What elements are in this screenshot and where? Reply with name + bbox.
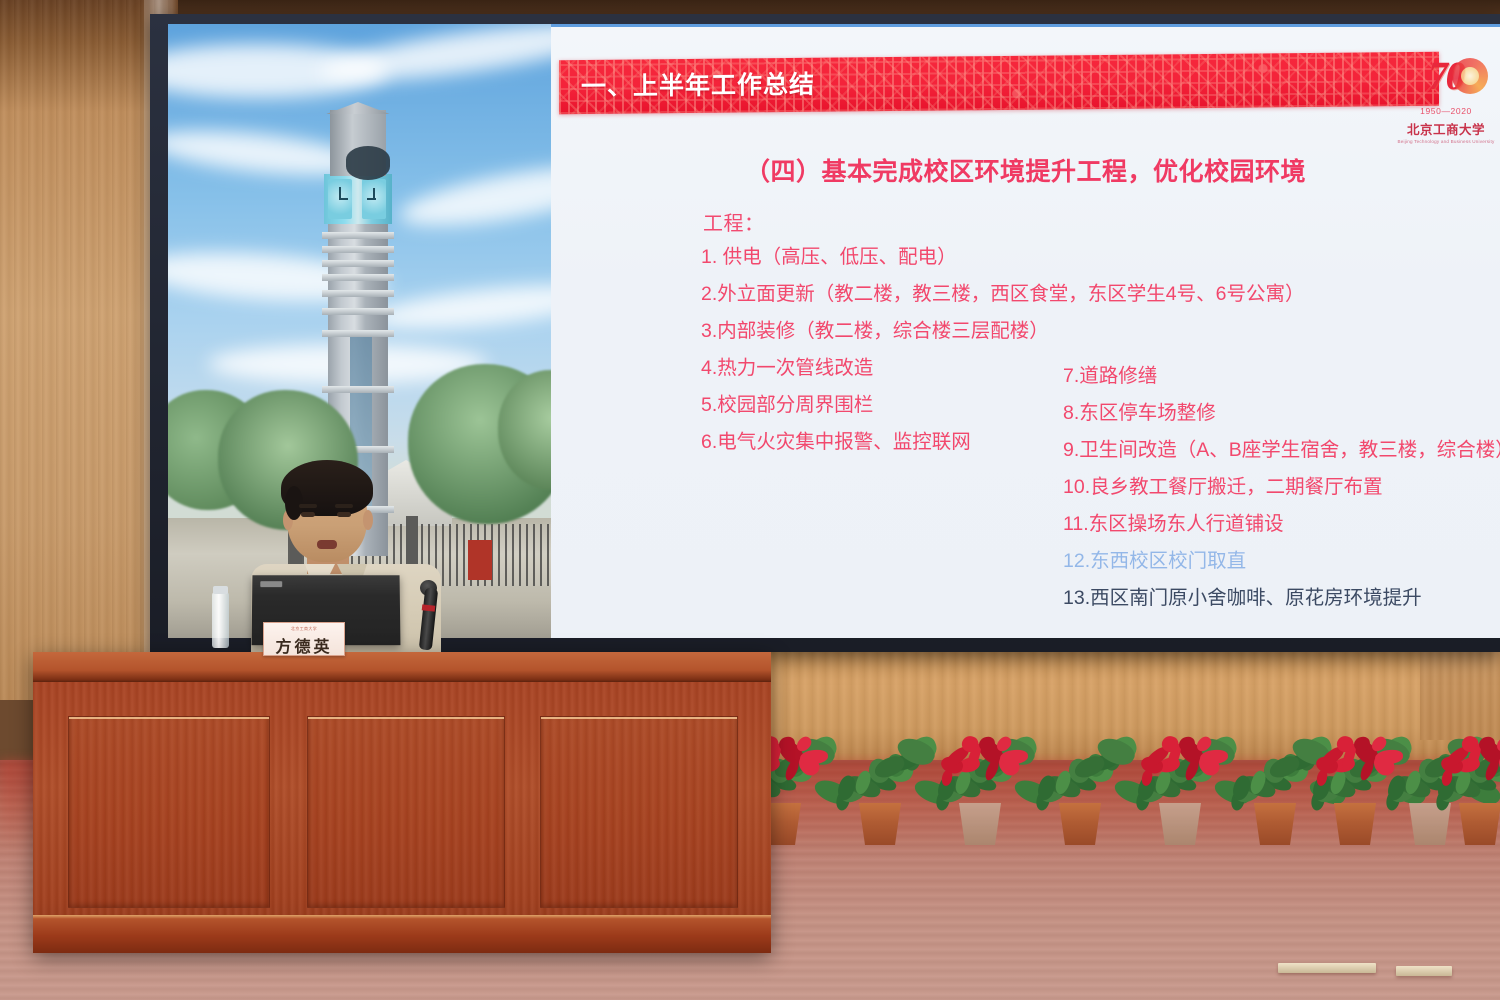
flower-pot [1330, 803, 1380, 845]
eye [337, 512, 351, 517]
list-item: 8.东区停车场整修 [1063, 395, 1500, 432]
logo-swirl-icon [1452, 58, 1488, 94]
list-item: 13.西区南门原小舍咖啡、原花房环境提升 [1063, 580, 1500, 617]
section-banner-label: 一、上半年工作总结 [581, 58, 815, 114]
tower-rib [322, 274, 394, 281]
list-item: 10.良乡教工餐厅搬迁，二期餐厅布置 [1063, 469, 1500, 506]
clock-hand [367, 198, 376, 200]
list-section-heading: 工程： [703, 207, 765, 236]
mouth [317, 540, 337, 549]
slide-content: 一、上半年工作总结 70 1950—2020 北京工商大学 Beijing Te… [551, 24, 1500, 638]
potted-poinsettia [1125, 725, 1235, 845]
presentation-scene: 一、上半年工作总结 70 1950—2020 北京工商大学 Beijing Te… [0, 0, 1500, 1000]
clock-hand [339, 198, 348, 200]
flower-pot [1055, 803, 1105, 845]
photo-red-sign [468, 540, 492, 580]
bottle-cap [213, 586, 228, 594]
podium-panel [307, 716, 505, 908]
flower-pot [1250, 803, 1300, 845]
name-card: 北京工商大学 方德英 [263, 622, 345, 656]
tower-rib [322, 232, 394, 239]
ear [363, 510, 373, 530]
flower-pot [955, 803, 1005, 845]
name-card-name: 方德英 [264, 633, 344, 656]
tower-cap [322, 102, 394, 114]
tower-crown-opening [346, 146, 390, 180]
eye [301, 512, 315, 517]
tower-rib [322, 290, 394, 297]
list-item: 9.卫生间改造（A、B座学生宿舍，教三楼，综合楼） [1063, 432, 1500, 469]
potted-green-plant [825, 725, 935, 845]
potted-green-plant [1025, 725, 1135, 845]
cloud [396, 154, 551, 237]
eyebrow [335, 504, 353, 508]
potted-poinsettia [925, 725, 1035, 845]
flower-pot [1155, 803, 1205, 845]
eyebrow [299, 504, 317, 508]
flower-pot [855, 803, 905, 845]
podium-top-surface [33, 652, 771, 682]
speaker-hair [281, 460, 373, 516]
tower-rib [322, 260, 394, 267]
microphone-band [422, 604, 436, 611]
tower-rib [322, 308, 394, 315]
list-item: 11.东区操场东人行道铺设 [1063, 506, 1500, 543]
name-card-header: 北京工商大学 [264, 626, 344, 632]
water-bottle [212, 592, 229, 648]
tower-rib [322, 330, 394, 337]
podium-base-trim [33, 915, 771, 953]
clock-face [362, 179, 386, 219]
engineering-list-right: 7.道路修缮 8.东区停车场整修 9.卫生间改造（A、B座学生宿舍，教三楼，综合… [1063, 358, 1500, 617]
tower-crown [330, 110, 386, 176]
potted-poinsettia [1425, 725, 1500, 845]
flower-pot [1455, 803, 1500, 845]
podium-panel [540, 716, 738, 908]
section-banner: 一、上半年工作总结 [559, 52, 1439, 114]
floor-marker [1396, 966, 1452, 976]
podium-panel [68, 716, 270, 908]
list-item: 2.外立面更新（教二楼，教三楼，西区食堂，东区学生4号、6号公寓） [701, 276, 1281, 313]
clock-face [328, 179, 352, 219]
logo-number-mark: 70 [1396, 52, 1496, 108]
logo-university-name-cn: 北京工商大学 [1396, 119, 1496, 138]
laptop-brand-logo-icon [260, 581, 282, 587]
floor-marker [1278, 963, 1376, 973]
list-item: 3.内部装修（教二楼，综合楼三层配楼） [701, 313, 1281, 350]
tower-rib [322, 246, 394, 253]
list-item: 1. 供电（高压、低压、配电） [701, 239, 1281, 276]
slide-top-accent [551, 24, 1500, 27]
university-anniversary-logo: 70 1950—2020 北京工商大学 Beijing Technology a… [1396, 52, 1496, 156]
slide-title: （四）基本完成校区环境提升工程，优化校园环境 [551, 152, 1500, 188]
list-item: 12.东西校区校门取直 [1063, 543, 1500, 580]
list-item: 7.道路修缮 [1063, 358, 1500, 395]
logo-university-name-en: Beijing Technology and Business Universi… [1396, 139, 1496, 144]
